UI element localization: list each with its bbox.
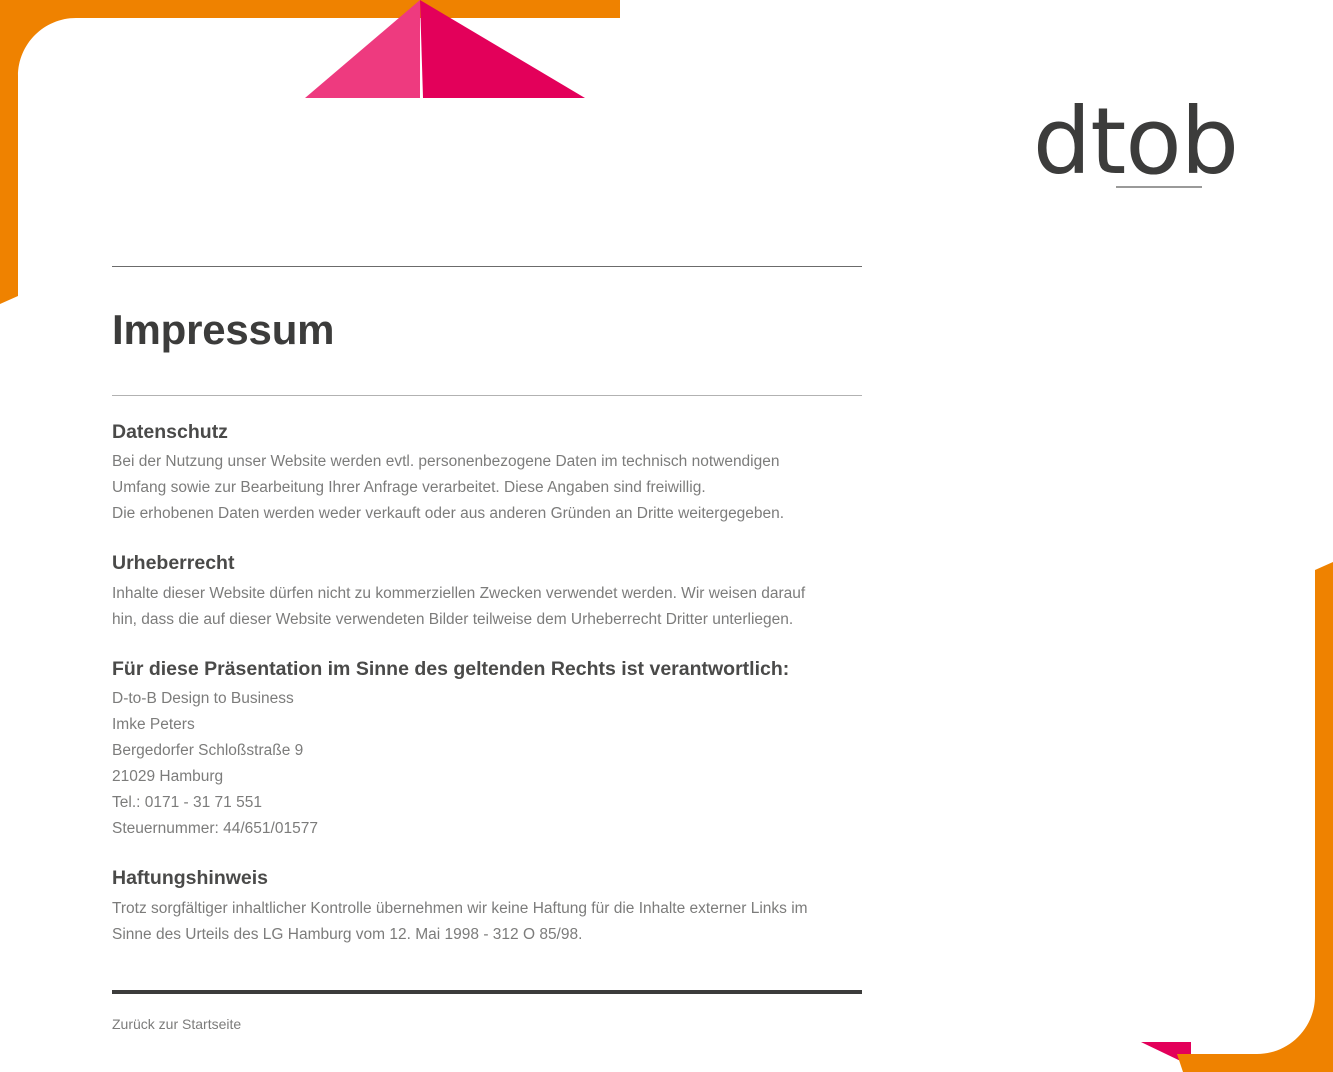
- footer: Zurück zur Startseite: [112, 990, 862, 1034]
- body-line: Die erhobenen Daten werden weder verkauf…: [112, 501, 862, 527]
- orange-band-top-left: [0, 0, 620, 304]
- orange-pink-corner-graphic-bottom-right: [1123, 542, 1333, 1072]
- logo-underline: [1116, 186, 1202, 188]
- pink-triangle-bottom-left: [1141, 1042, 1191, 1066]
- tax-number-line: Steuernummer: 44/651/01577: [112, 816, 862, 842]
- dtob-wordmark: dtob: [1023, 96, 1238, 188]
- body-line: Inhalte dieser Website dürfen nicht zu k…: [112, 581, 862, 607]
- section-datenschutz: Datenschutz Bei der Nutzung unser Websit…: [112, 420, 862, 527]
- impressum-page: dtob Impressum Datenschutz Bei der Nutzu…: [0, 0, 1333, 1072]
- section-haftungshinweis: Haftungshinweis Trotz sorgfältiger inhal…: [112, 866, 862, 947]
- body-line: Umfang sowie zur Bearbeitung Ihrer Anfra…: [112, 475, 862, 501]
- divider-above-title: [112, 266, 862, 267]
- body-line: Trotz sorgfältiger inhaltlicher Kontroll…: [112, 896, 862, 922]
- address-line: 21029 Hamburg: [112, 764, 862, 790]
- back-to-home-link[interactable]: Zurück zur Startseite: [112, 1016, 241, 1032]
- section-heading: Urheberrecht: [112, 551, 862, 576]
- section-heading: Für diese Präsentation im Sinne des gelt…: [112, 657, 862, 682]
- body-line: hin, dass die auf dieser Website verwend…: [112, 607, 862, 633]
- section-heading: Datenschutz: [112, 420, 862, 445]
- page-title: Impressum: [112, 309, 862, 351]
- body-line: Bei der Nutzung unser Website werden evt…: [112, 449, 862, 475]
- address-line: Bergedorfer Schloßstraße 9: [112, 738, 862, 764]
- section-heading: Haftungshinweis: [112, 866, 862, 891]
- address-line: Imke Peters: [112, 712, 862, 738]
- pink-triangle-dark: [420, 0, 585, 98]
- divider-below-title: [112, 395, 862, 396]
- dtob-logo: dtob: [1023, 96, 1238, 192]
- section-verantwortlich: Für diese Präsentation im Sinne des gelt…: [112, 657, 862, 843]
- pink-sliver-right-edge: [1301, 1040, 1333, 1072]
- body-line: Sinne des Urteils des LG Hamburg vom 12.…: [112, 922, 862, 948]
- pink-triangle-light: [305, 0, 420, 98]
- section-urheberrecht: Urheberrecht Inhalte dieser Website dürf…: [112, 551, 862, 632]
- phone-line: Tel.: 0171 - 31 71 551: [112, 790, 862, 816]
- orange-band-bottom-right: [1177, 562, 1333, 1072]
- content-column: Impressum Datenschutz Bei der Nutzung un…: [112, 266, 862, 1034]
- divider-footer: [112, 990, 862, 994]
- address-line: D-to-B Design to Business: [112, 686, 862, 712]
